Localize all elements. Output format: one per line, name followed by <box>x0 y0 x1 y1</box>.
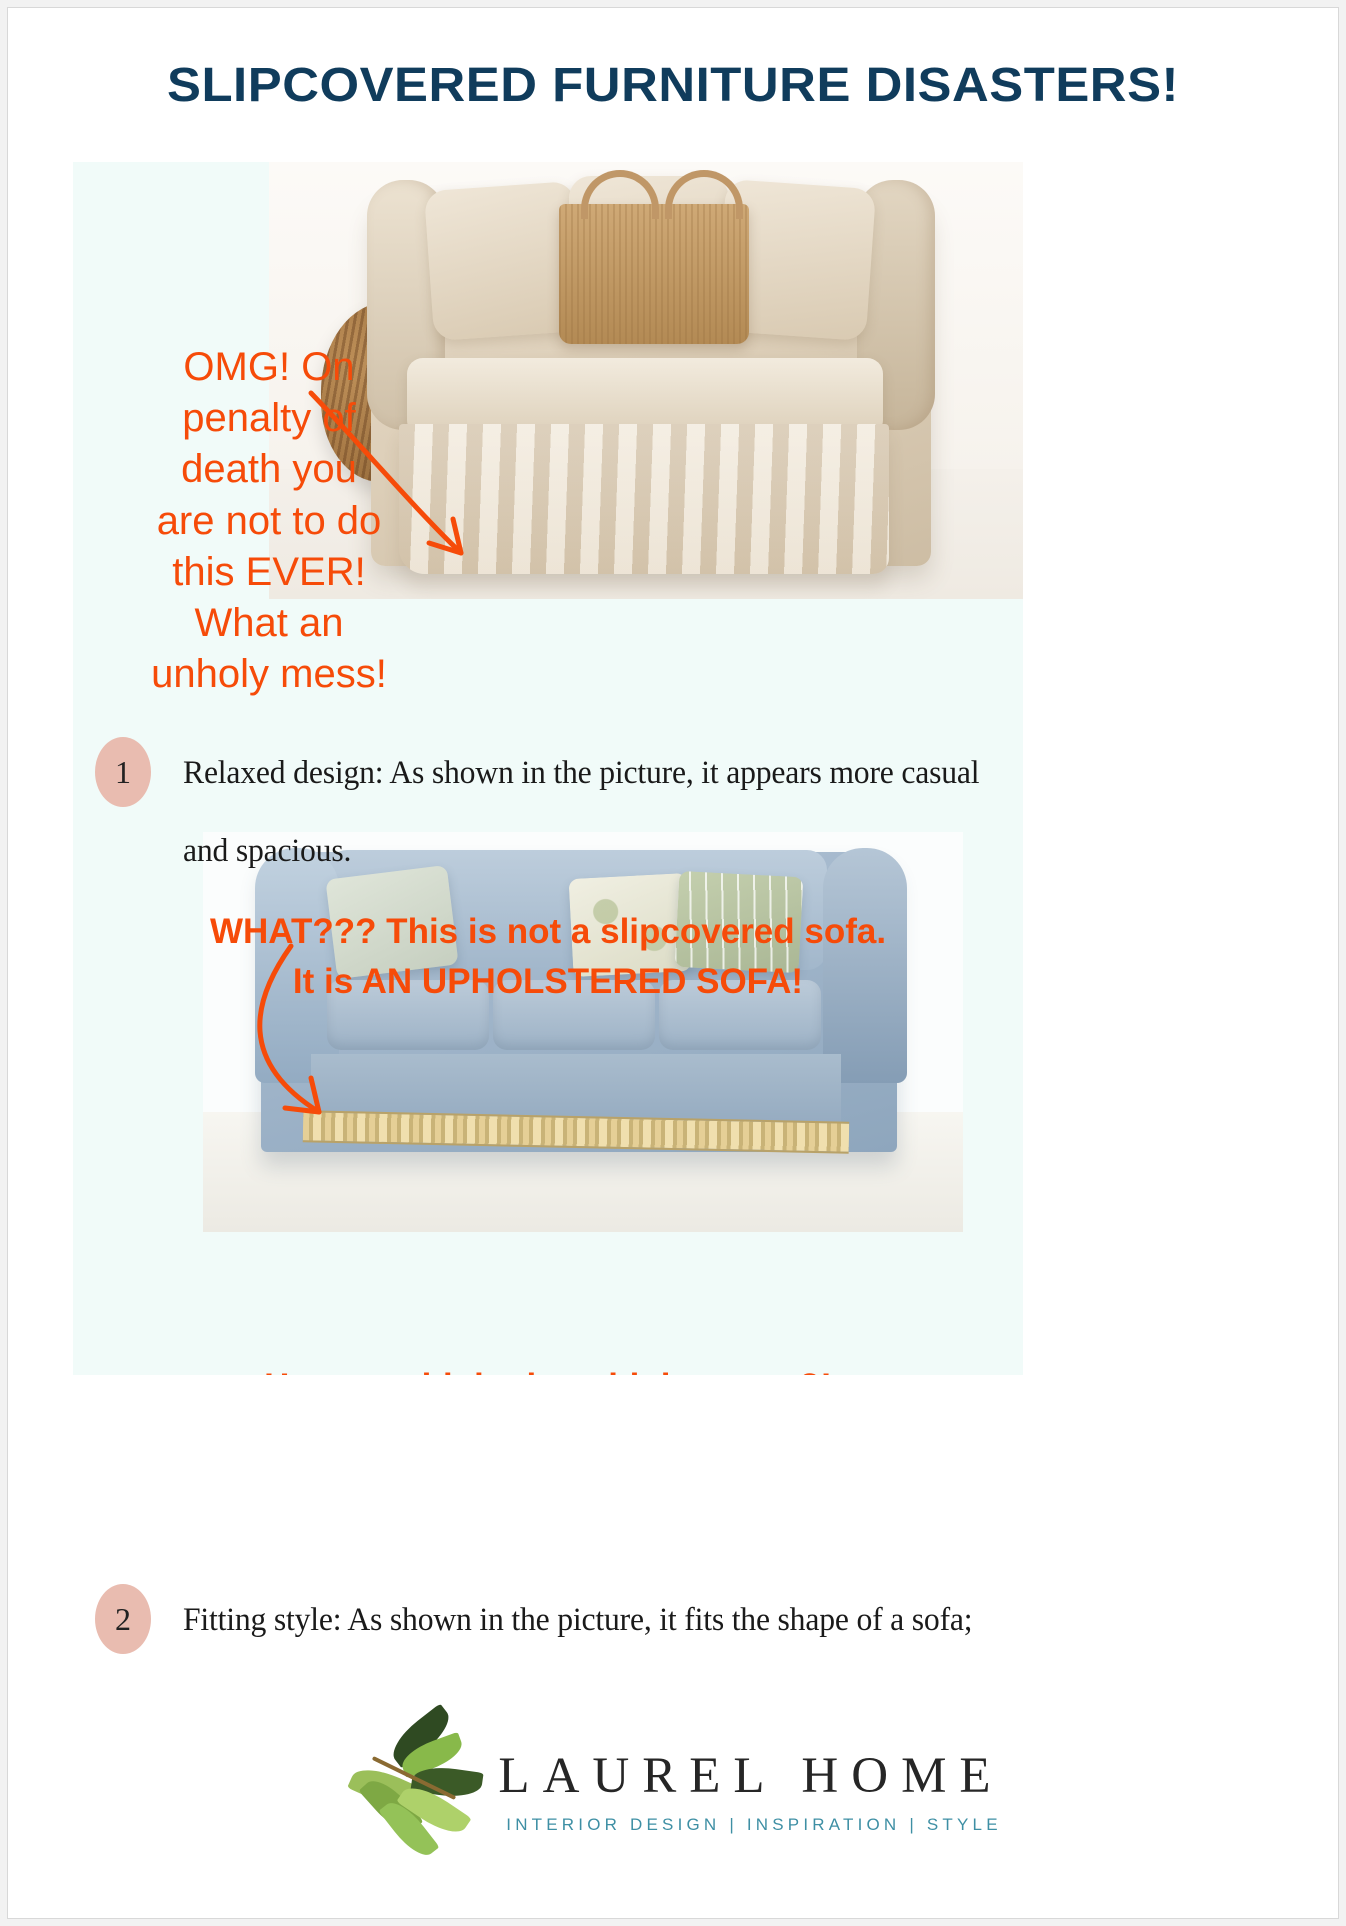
poster-canvas: SLIPCOVERED FURNITURE DISASTERS! <box>0 0 1346 1926</box>
curved-arrow-down-right-icon <box>303 387 493 587</box>
list-number-badge: 1 <box>95 737 151 807</box>
brand-logo: LAUREL HOME INTERIOR DESIGN | INSPIRATIO… <box>0 1700 1346 1870</box>
list-item-text: Relaxed design: As shown in the picture,… <box>183 735 991 890</box>
list-item-2: 2 Fitting style: As shown in the picture… <box>95 1582 1025 1660</box>
straw-tote-bag <box>559 204 749 344</box>
logo-tagline: INTERIOR DESIGN | INSPIRATION | STYLE <box>498 1815 1003 1835</box>
list-number-badge: 2 <box>95 1584 151 1654</box>
page-title: SLIPCOVERED FURNITURE DISASTERS! <box>0 58 1346 113</box>
list-item-1: 1 Relaxed design: As shown in the pictur… <box>95 735 1025 890</box>
laurel-leaves-icon <box>342 1700 502 1870</box>
annotation-what-line-2: It is AN UPHOLSTERED SOFA! <box>73 957 1023 1007</box>
logo-wordmark: LAUREL HOME INTERIOR DESIGN | INSPIRATIO… <box>498 1747 1003 1835</box>
curved-arrow-down-left-icon <box>233 942 363 1142</box>
logo-name: LAUREL HOME <box>498 1747 1003 1805</box>
annotation-stupid-line: How stupid do they think we are?! <box>73 1367 1023 1375</box>
list-item-text: Fitting style: As shown in the picture, … <box>183 1582 972 1660</box>
annotation-what-block: WHAT??? This is not a slipcovered sofa. … <box>73 907 1023 1006</box>
